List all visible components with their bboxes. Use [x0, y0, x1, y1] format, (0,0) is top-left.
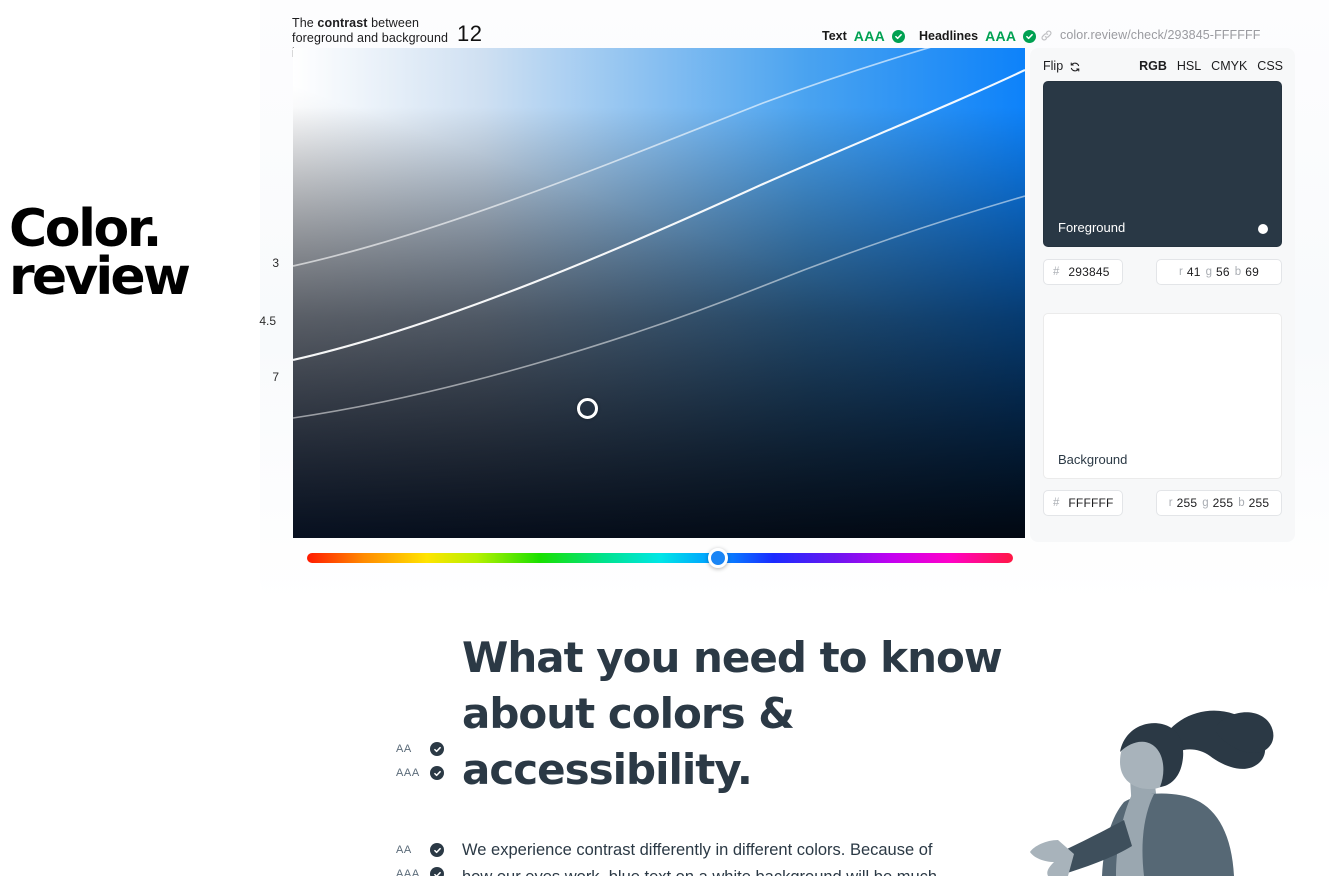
color-panel: Flip RGB HSL CMYK CSS Foreground # 29384…: [1030, 48, 1295, 542]
hash-symbol: #: [1053, 266, 1059, 278]
curve-contrast-4-5: [293, 70, 1025, 360]
headline-badge-aa-label: AA: [396, 743, 422, 755]
foreground-swatch[interactable]: Foreground: [1043, 81, 1282, 247]
body-badge-aa-label: AA: [396, 844, 422, 856]
r-key: r: [1179, 266, 1183, 278]
site-logo[interactable]: Color. review: [9, 206, 224, 302]
contrast-bold-word: contrast: [317, 16, 367, 30]
format-tab-css[interactable]: CSS: [1257, 59, 1283, 73]
headlines-rating-label: Headlines: [919, 29, 978, 43]
foreground-hex-field[interactable]: # 293845: [1043, 259, 1123, 285]
format-tab-hsl[interactable]: HSL: [1177, 59, 1201, 73]
curve-contrast-7: [293, 196, 1025, 418]
headline-badge-aa: AA: [396, 742, 444, 756]
check-circle-icon: [430, 843, 444, 857]
color-format-tabs: RGB HSL CMYK CSS: [1139, 59, 1283, 73]
top-status-bar: The contrast between foreground and back…: [0, 0, 1329, 48]
person-illustration: [1020, 690, 1320, 876]
article-body-text: We experience contrast differently in di…: [462, 837, 962, 876]
headline-badge-aaa: AAA: [396, 766, 444, 780]
foreground-b-pair: b 69: [1235, 265, 1259, 279]
link-icon: [1040, 29, 1053, 42]
gradient-layers: [293, 48, 1025, 538]
headline-badges: AA AAA: [396, 742, 444, 780]
logo-line-2: review: [9, 254, 224, 302]
color-picker-handle[interactable]: [577, 398, 598, 419]
body-badges: AA AAA: [396, 843, 444, 876]
background-b-value: 255: [1249, 496, 1270, 510]
check-circle-icon: [1023, 30, 1036, 43]
check-circle-icon: [430, 867, 444, 876]
foreground-g-value: 56: [1216, 265, 1230, 279]
foreground-b-value: 69: [1245, 265, 1259, 279]
format-tab-cmyk[interactable]: CMYK: [1211, 59, 1247, 73]
headlines-rating-group: Headlines AAA: [919, 28, 1036, 44]
g-key: g: [1202, 497, 1208, 509]
background-swatch[interactable]: Background: [1043, 313, 1282, 479]
b-key: b: [1238, 497, 1244, 509]
page-root: The contrast between foreground and back…: [0, 0, 1329, 876]
color-panel-header: Flip RGB HSL CMYK CSS: [1043, 59, 1283, 77]
contrast-prefix: The: [292, 16, 317, 30]
flip-button[interactable]: Flip: [1043, 59, 1081, 73]
r-key: r: [1169, 497, 1173, 509]
background-rgb-field[interactable]: r 255 g 255 b 255: [1156, 490, 1282, 516]
hue-slider-thumb[interactable]: [708, 548, 728, 568]
background-b-pair: b 255: [1238, 496, 1269, 510]
foreground-rgb-field[interactable]: r 41 g 56 b 69: [1156, 259, 1282, 285]
background-label: Background: [1058, 452, 1127, 467]
flip-label: Flip: [1043, 59, 1063, 73]
permalink-url: color.review/check/293845-FFFFFF: [1060, 28, 1260, 42]
text-rating-label: Text: [822, 29, 847, 43]
headline-badge-aaa-label: AAA: [396, 767, 422, 779]
contrast-ratio-value: 12: [457, 21, 482, 47]
background-g-pair: g 255: [1202, 496, 1233, 510]
curve-contrast-3: [293, 48, 1025, 266]
axis-label-3: 3: [239, 256, 279, 270]
text-rating-group: Text AAA: [822, 28, 905, 44]
foreground-g-pair: g 56: [1206, 265, 1230, 279]
hash-symbol: #: [1053, 497, 1059, 509]
check-circle-icon: [892, 30, 905, 43]
foreground-label: Foreground: [1058, 220, 1125, 235]
body-badge-aaa-label: AAA: [396, 868, 422, 876]
check-circle-icon: [430, 742, 444, 756]
background-hex-field[interactable]: # FFFFFF: [1043, 490, 1123, 516]
b-key: b: [1235, 266, 1241, 278]
foreground-hex-value: 293845: [1068, 265, 1109, 279]
permalink[interactable]: color.review/check/293845-FFFFFF: [1040, 28, 1260, 42]
background-g-value: 255: [1213, 496, 1234, 510]
foreground-r-pair: r 41: [1179, 265, 1201, 279]
hand-shape: [1030, 840, 1074, 876]
background-r-value: 255: [1177, 496, 1198, 510]
hue-slider[interactable]: [307, 553, 1013, 563]
check-circle-icon: [430, 766, 444, 780]
text-rating-score: AAA: [854, 28, 885, 44]
article-title: What you need to know about colors & acc…: [462, 630, 1002, 798]
headlines-rating-score: AAA: [985, 28, 1016, 44]
contrast-mid: between: [368, 16, 420, 30]
color-gradient-canvas[interactable]: [293, 48, 1025, 538]
g-key: g: [1206, 266, 1212, 278]
background-r-pair: r 255: [1169, 496, 1197, 510]
axis-label-7: 7: [239, 370, 279, 384]
foreground-r-value: 41: [1187, 265, 1201, 279]
contrast-threshold-curves: [293, 48, 1025, 538]
body-badge-aaa: AAA: [396, 867, 444, 876]
format-tab-rgb[interactable]: RGB: [1139, 59, 1167, 73]
foreground-active-dot: [1258, 224, 1268, 234]
background-hex-value: FFFFFF: [1068, 496, 1113, 510]
axis-label-4-5: 4.5: [236, 314, 276, 328]
refresh-icon: [1069, 60, 1081, 72]
body-badge-aa: AA: [396, 843, 444, 857]
